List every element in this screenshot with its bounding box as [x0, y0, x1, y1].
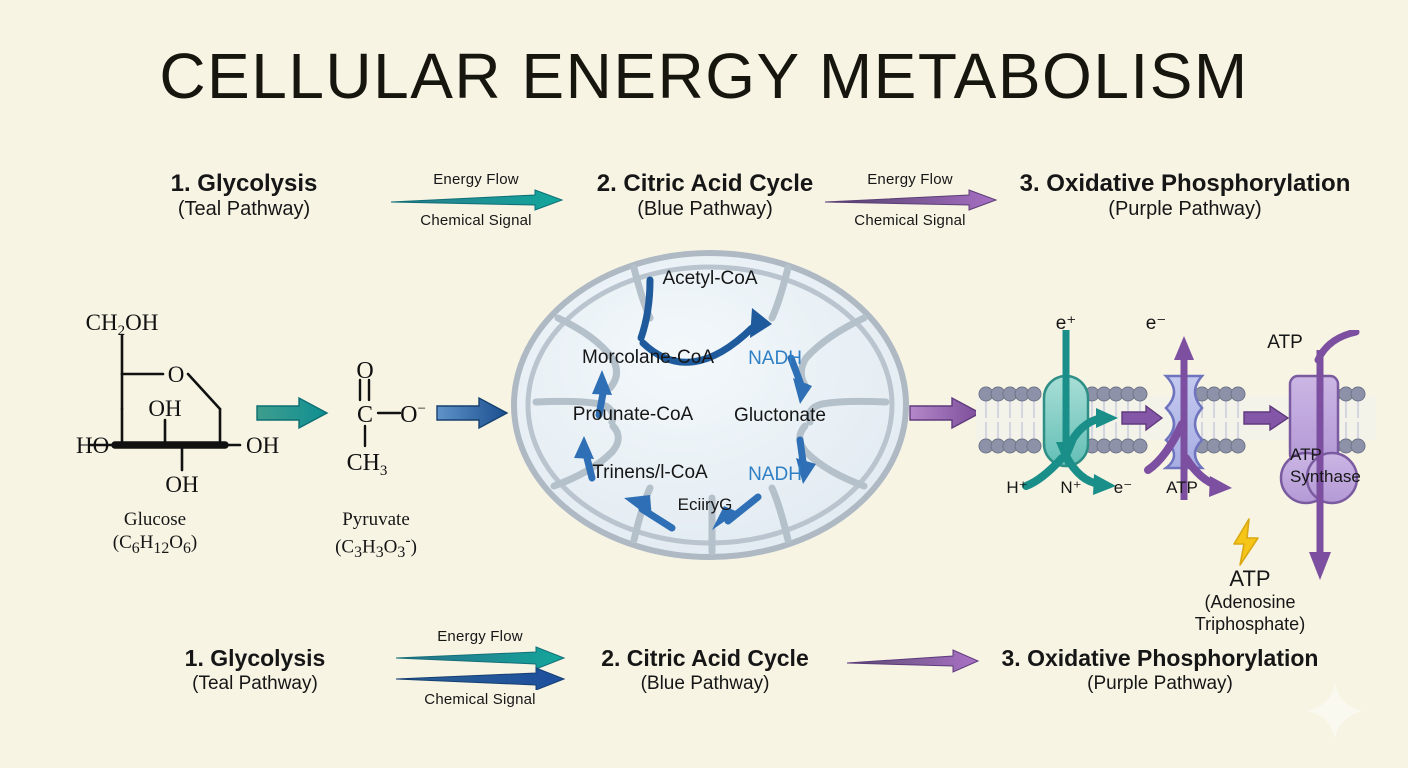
- connector-label-above: Energy Flow: [820, 171, 1000, 188]
- connector-label-above: Energy Flow: [386, 171, 566, 188]
- legend-connector-1: Energy Flow Chemical Signal: [390, 628, 570, 708]
- label-n-plus: N⁺: [1046, 478, 1096, 498]
- legend-item-glycolysis: 1. Glycolysis (Teal Pathway): [105, 645, 405, 695]
- legend-title: 2. Citric Acid Cycle: [555, 645, 855, 673]
- atp-synthase-line1: ATP: [1290, 444, 1400, 466]
- label-complex1-electron-in: e⁺: [1036, 312, 1096, 335]
- legend-arrow-label-below: Chemical Signal: [390, 691, 570, 708]
- cycle-node-morcolane-coa: Morcolane-CoA: [548, 347, 748, 369]
- atp-product-line2: Triphosphate): [1160, 614, 1340, 636]
- arrow-teal-icon: [389, 189, 564, 211]
- atom-ho-left: HO: [76, 433, 109, 458]
- arrow-cycle-to-membrane-icon: [908, 396, 983, 430]
- page-title: CELLULAR ENERGY METABOLISM: [0, 44, 1408, 108]
- label-complex2-electron-out: e⁻: [1126, 312, 1186, 335]
- connector-energy-flow-2: Energy Flow Chemical Signal: [820, 171, 1000, 229]
- pyruvate-structure-icon: O C O− CH3: [320, 352, 450, 482]
- label-atp-synthase-name: ATP Synthase: [1290, 444, 1400, 488]
- connector-energy-flow-1: Energy Flow Chemical Signal: [386, 171, 566, 229]
- atom-oh-top: OH: [148, 396, 181, 421]
- atom-carbon: C: [357, 402, 373, 428]
- legend-title: 1. Glycolysis: [105, 645, 405, 673]
- arrow-glucose-to-pyruvate-icon: [255, 396, 330, 430]
- legend-title: 3. Oxidative Phosphorylation: [960, 645, 1360, 673]
- cycle-input-acetyl-coa: Acetyl-CoA: [580, 268, 840, 290]
- label-electron-out: e⁻: [1098, 478, 1148, 498]
- arrow-pair-teal-blue-icon: [394, 646, 566, 690]
- atom-ch2oh: CH2OH: [86, 312, 159, 339]
- arrow-pyruvate-to-mitochondrion-icon: [435, 396, 510, 430]
- sparkle-watermark-icon: [1306, 682, 1364, 740]
- stage-title: 1. Glycolysis: [94, 170, 394, 198]
- atp-synthase-line2: Synthase: [1290, 466, 1400, 488]
- pyruvate-name: Pyruvate: [296, 508, 456, 531]
- connector-label-below: Chemical Signal: [386, 212, 566, 229]
- legend-subtitle: (Teal Pathway): [105, 673, 405, 696]
- stage-subtitle: (Teal Pathway): [94, 198, 394, 222]
- legend-item-citric-acid-cycle: 2. Citric Acid Cycle (Blue Pathway): [555, 645, 855, 695]
- pyruvate-caption: Pyruvate (C3H3O3-): [296, 508, 456, 563]
- atom-ring-oxygen: O: [168, 362, 185, 387]
- legend-subtitle: (Blue Pathway): [555, 673, 855, 696]
- legend-subtitle: (Purple Pathway): [960, 673, 1360, 696]
- stage-title: 3. Oxidative Phosphorylation: [985, 170, 1385, 198]
- atom-oh-right: OH: [246, 433, 279, 458]
- atp-product-name: ATP: [1160, 566, 1340, 592]
- stage-header-glycolysis: 1. Glycolysis (Teal Pathway): [94, 170, 394, 222]
- stage-subtitle: (Blue Pathway): [555, 198, 855, 222]
- pyruvate-formula: (C3H3O3-): [296, 531, 456, 562]
- cycle-node-prounate-coa: Prounate-CoA: [538, 404, 728, 426]
- glucose-caption: Glucose (C6H12O6): [55, 508, 255, 558]
- label-proton-h-plus: H⁺: [992, 478, 1042, 498]
- glucose-name: Glucose: [55, 508, 255, 531]
- atom-carbonyl-oxygen: O: [356, 358, 373, 384]
- atom-oxygen-anion: O−: [400, 401, 426, 428]
- atp-product-line1: (Adenosine: [1160, 592, 1340, 614]
- diagram-canvas: CELLULAR ENERGY METABOLISM 1. Glycolysis…: [0, 0, 1408, 768]
- arrow-purple-icon: [823, 189, 998, 211]
- glucose-formula: (C6H12O6): [55, 531, 255, 558]
- atom-oh-bottom: OH: [165, 472, 198, 497]
- cycle-node-eciiryg: EciiryG: [645, 495, 765, 515]
- connector-label-below: Chemical Signal: [820, 212, 1000, 229]
- stage-title: 2. Citric Acid Cycle: [555, 170, 855, 198]
- atp-product-caption: ATP (Adenosine Triphosphate): [1160, 566, 1340, 636]
- label-atp-output: ATP: [1152, 478, 1212, 498]
- lightning-bolt-icon: [1228, 518, 1264, 566]
- cycle-node-trinensl-coa: Trinens/l-CoA: [560, 462, 740, 484]
- atom-ch3: CH3: [347, 450, 388, 479]
- stage-header-citric-acid-cycle: 2. Citric Acid Cycle (Blue Pathway): [555, 170, 855, 222]
- stage-subtitle: (Purple Pathway): [985, 198, 1385, 222]
- stage-header-oxidative-phosphorylation: 3. Oxidative Phosphorylation (Purple Pat…: [985, 170, 1385, 222]
- legend-arrow-label-above: Energy Flow: [390, 628, 570, 645]
- legend-item-oxidative-phosphorylation: 3. Oxidative Phosphorylation (Purple Pat…: [960, 645, 1360, 695]
- label-atp-synthase-product: ATP: [1255, 332, 1315, 354]
